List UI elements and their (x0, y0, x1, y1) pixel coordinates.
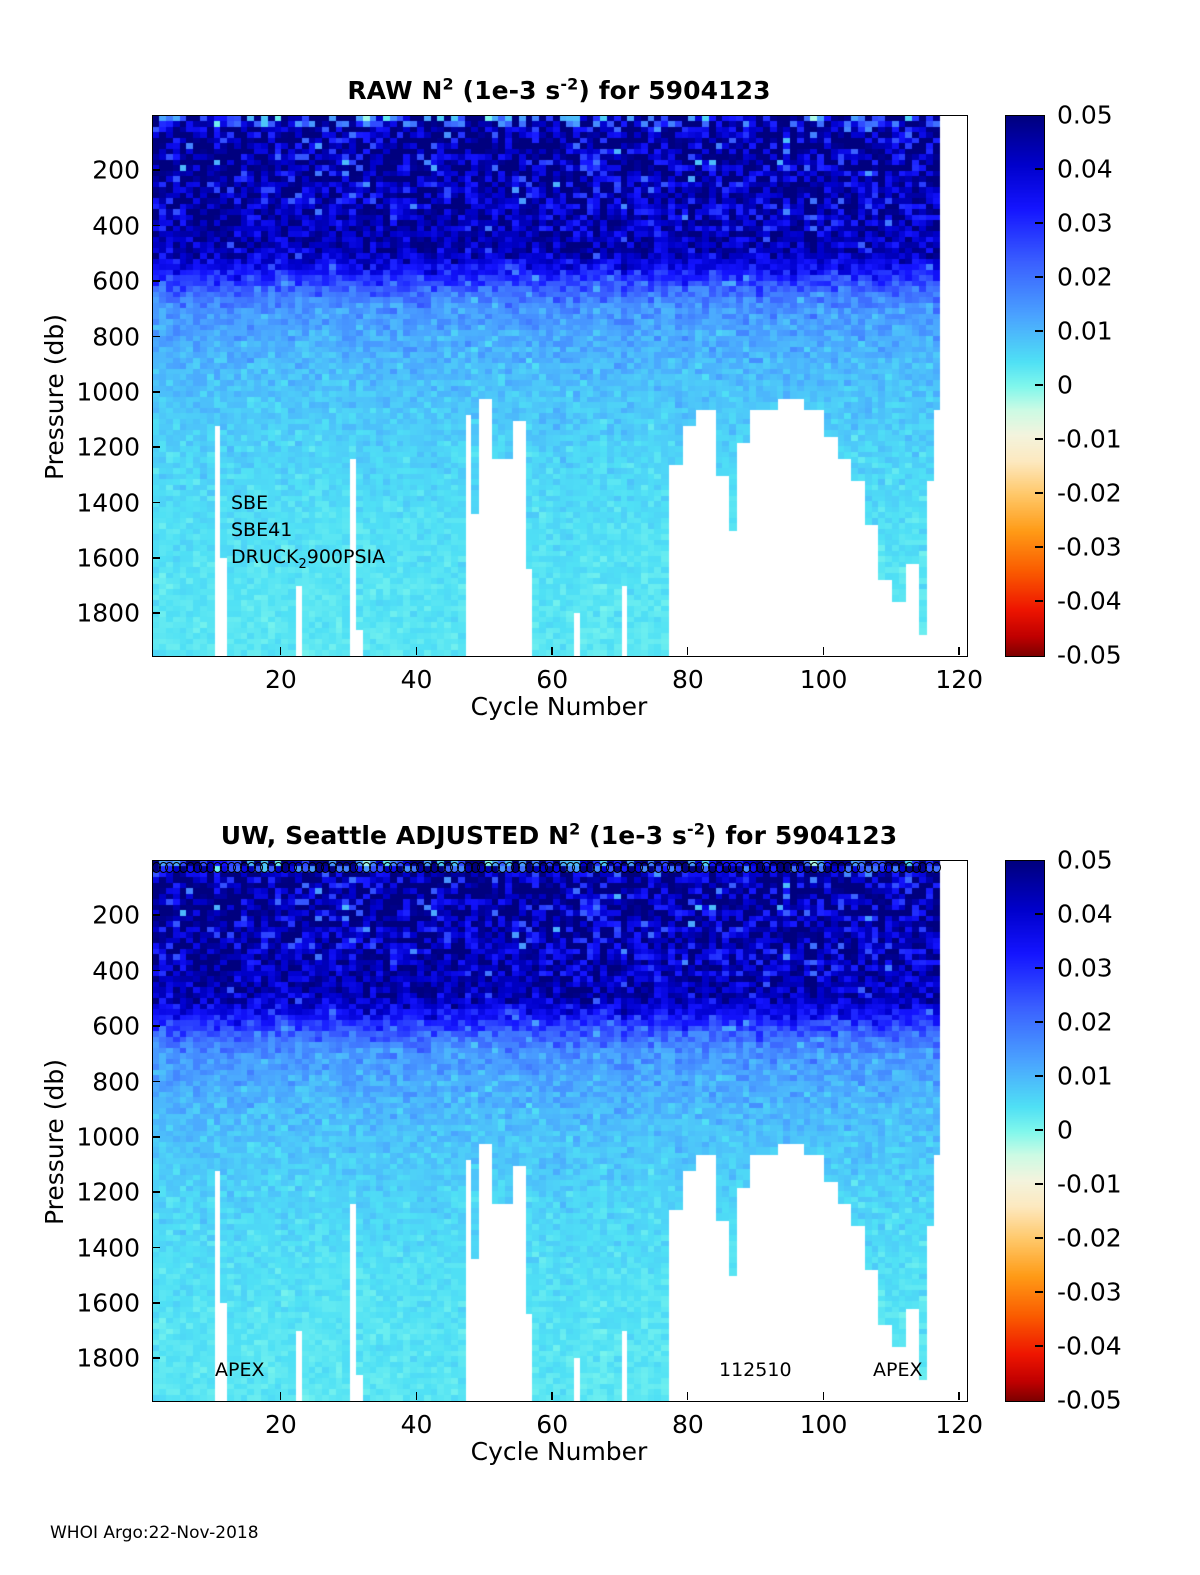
x-tick-mark (687, 647, 689, 655)
x-tick-mark (551, 1392, 553, 1400)
argo-n2-figure: RAW N2 (1e-3 s-2) for 5904123 SBESBE41DR… (0, 0, 1200, 1575)
y-tick-label: 600 (60, 267, 140, 296)
x-tick-mark (687, 1392, 689, 1400)
heatmap-adjusted (153, 861, 967, 1401)
y-tick-label: 400 (60, 211, 140, 240)
x-tick-label: 120 (935, 665, 983, 694)
colorbar-tick-label: 0 (1057, 1116, 1073, 1145)
colorbar-tick-mark (1035, 1183, 1043, 1185)
x-tick-mark (958, 647, 960, 655)
x-axis-label-adjusted: Cycle Number (152, 1437, 966, 1466)
x-tick-mark (416, 647, 418, 655)
colorbar-adjusted[interactable] (1005, 860, 1045, 1402)
heatmap-axes-raw[interactable]: SBESBE41DRUCK2900PSIA (152, 115, 968, 657)
colorbar-tick-mark (1035, 276, 1043, 278)
colorbar-tick-label: -0.01 (1057, 1170, 1122, 1199)
x-tick-mark (551, 647, 553, 655)
colorbar-tick-label: -0.04 (1057, 587, 1122, 616)
y-tick-mark (152, 336, 160, 338)
x-tick-label: 100 (800, 1410, 848, 1439)
y-tick-label: 1200 (60, 1178, 140, 1207)
y-tick-mark (152, 225, 160, 227)
colorbar-tick-label: -0.03 (1057, 1278, 1122, 1307)
x-tick-label: 80 (672, 1410, 704, 1439)
y-tick-label: 200 (60, 156, 140, 185)
x-tick-mark (823, 647, 825, 655)
colorbar-tick-label: 0.04 (1057, 155, 1113, 184)
colorbar-tick-label: 0.05 (1057, 101, 1113, 130)
x-tick-mark (958, 1392, 960, 1400)
y-tick-mark (152, 1025, 160, 1027)
heatmap-raw (153, 116, 967, 656)
x-tick-label: 20 (265, 1410, 297, 1439)
plot-title-raw: RAW N2 (1e-3 s-2) for 5904123 (152, 76, 966, 105)
footer-credit: WHOI Argo:22-Nov-2018 (50, 1523, 259, 1543)
panel-adjusted: UW, Seattle ADJUSTED N2 (1e-3 s-2) for 5… (0, 745, 1200, 1505)
y-tick-mark (152, 1357, 160, 1359)
annotation-apex-right: APEX (873, 1357, 922, 1384)
y-tick-label: 1400 (60, 1233, 140, 1262)
colorbar-tick-label: -0.05 (1057, 1386, 1122, 1415)
colorbar-tick-label: -0.05 (1057, 641, 1122, 670)
y-tick-label: 1000 (60, 1122, 140, 1151)
colorbar-tick-label: 0.01 (1057, 1062, 1113, 1091)
heatmap-axes-adjusted[interactable]: APEX 112510 APEX (152, 860, 968, 1402)
colorbar-tick-mark (1035, 913, 1043, 915)
annotation-apex-left: APEX (215, 1357, 264, 1384)
colorbar-tick-mark (1035, 1075, 1043, 1077)
x-tick-mark (280, 1392, 282, 1400)
y-tick-label: 200 (60, 901, 140, 930)
y-tick-label: 1000 (60, 377, 140, 406)
colorbar-tick-label: 0.05 (1057, 846, 1113, 875)
y-tick-label: 1600 (60, 544, 140, 573)
colorbar-tick-label: -0.02 (1057, 479, 1122, 508)
y-tick-mark (152, 169, 160, 171)
annotation-sbe: SBESBE41DRUCK2900PSIA (231, 490, 385, 571)
colorbar-tick-mark (1035, 1129, 1043, 1131)
colorbar-tick-mark (1035, 492, 1043, 494)
colorbar-tick-mark (1035, 600, 1043, 602)
panel-raw: RAW N2 (1e-3 s-2) for 5904123 SBESBE41DR… (0, 0, 1200, 760)
y-tick-label: 1600 (60, 1289, 140, 1318)
colorbar-raw[interactable] (1005, 115, 1045, 657)
x-tick-label: 80 (672, 665, 704, 694)
colorbar-tick-label: 0.04 (1057, 900, 1113, 929)
colorbar-tick-label: 0.02 (1057, 263, 1113, 292)
annotation-line: SBE41 (231, 517, 385, 544)
x-axis-label-raw: Cycle Number (152, 692, 966, 721)
colorbar-tick-mark (1035, 1237, 1043, 1239)
plot-title-adjusted: UW, Seattle ADJUSTED N2 (1e-3 s-2) for 5… (152, 821, 966, 850)
y-tick-mark (152, 391, 160, 393)
y-tick-mark (152, 1136, 160, 1138)
x-tick-label: 120 (935, 1410, 983, 1439)
y-tick-mark (152, 1302, 160, 1304)
x-tick-label: 60 (536, 665, 568, 694)
y-tick-mark (152, 446, 160, 448)
y-axis-label-raw: Pressure (db) (40, 314, 69, 480)
y-tick-mark (152, 557, 160, 559)
colorbar-tick-mark (1035, 1021, 1043, 1023)
annotation-line: SBE (231, 490, 385, 517)
colorbar-tick-label: 0.03 (1057, 209, 1113, 238)
y-tick-mark (152, 970, 160, 972)
colorbar-tick-label: -0.04 (1057, 1332, 1122, 1361)
x-tick-label: 60 (536, 1410, 568, 1439)
colorbar-tick-label: 0.01 (1057, 317, 1113, 346)
y-tick-mark (152, 280, 160, 282)
colorbar-tick-mark (1035, 1291, 1043, 1293)
y-tick-label: 1200 (60, 433, 140, 462)
colorbar-tick-label: 0 (1057, 371, 1073, 400)
y-tick-label: 800 (60, 322, 140, 351)
y-tick-mark (152, 1191, 160, 1193)
y-tick-label: 800 (60, 1067, 140, 1096)
y-tick-mark (152, 612, 160, 614)
x-tick-label: 20 (265, 665, 297, 694)
x-tick-label: 100 (800, 665, 848, 694)
annotation-line: DRUCK2900PSIA (231, 544, 385, 571)
colorbar-tick-mark (1035, 1345, 1043, 1347)
colorbar-tick-mark (1035, 967, 1043, 969)
x-tick-mark (280, 647, 282, 655)
colorbar-tick-label: -0.02 (1057, 1224, 1122, 1253)
y-tick-mark (152, 914, 160, 916)
y-tick-label: 400 (60, 956, 140, 985)
y-tick-label: 1800 (60, 1344, 140, 1373)
colorbar-tick-label: 0.03 (1057, 954, 1113, 983)
colorbar-tick-mark (1035, 222, 1043, 224)
x-tick-label: 40 (401, 1410, 433, 1439)
colorbar-tick-mark (1035, 168, 1043, 170)
colorbar-gradient-adjusted (1006, 861, 1044, 1401)
colorbar-tick-label: 0.02 (1057, 1008, 1113, 1037)
y-axis-label-adjusted: Pressure (db) (40, 1059, 69, 1225)
colorbar-tick-label: -0.03 (1057, 533, 1122, 562)
y-tick-label: 600 (60, 1012, 140, 1041)
colorbar-gradient-raw (1006, 116, 1044, 656)
x-tick-label: 40 (401, 665, 433, 694)
colorbar-tick-mark (1035, 438, 1043, 440)
colorbar-tick-mark (1035, 330, 1043, 332)
annotation-serial: 112510 (719, 1357, 792, 1384)
y-tick-mark (152, 1247, 160, 1249)
y-tick-mark (152, 502, 160, 504)
y-tick-label: 1400 (60, 488, 140, 517)
x-tick-mark (823, 1392, 825, 1400)
x-tick-mark (416, 1392, 418, 1400)
colorbar-tick-label: -0.01 (1057, 425, 1122, 454)
y-tick-mark (152, 1081, 160, 1083)
y-tick-label: 1800 (60, 599, 140, 628)
colorbar-tick-mark (1035, 546, 1043, 548)
colorbar-tick-mark (1035, 384, 1043, 386)
